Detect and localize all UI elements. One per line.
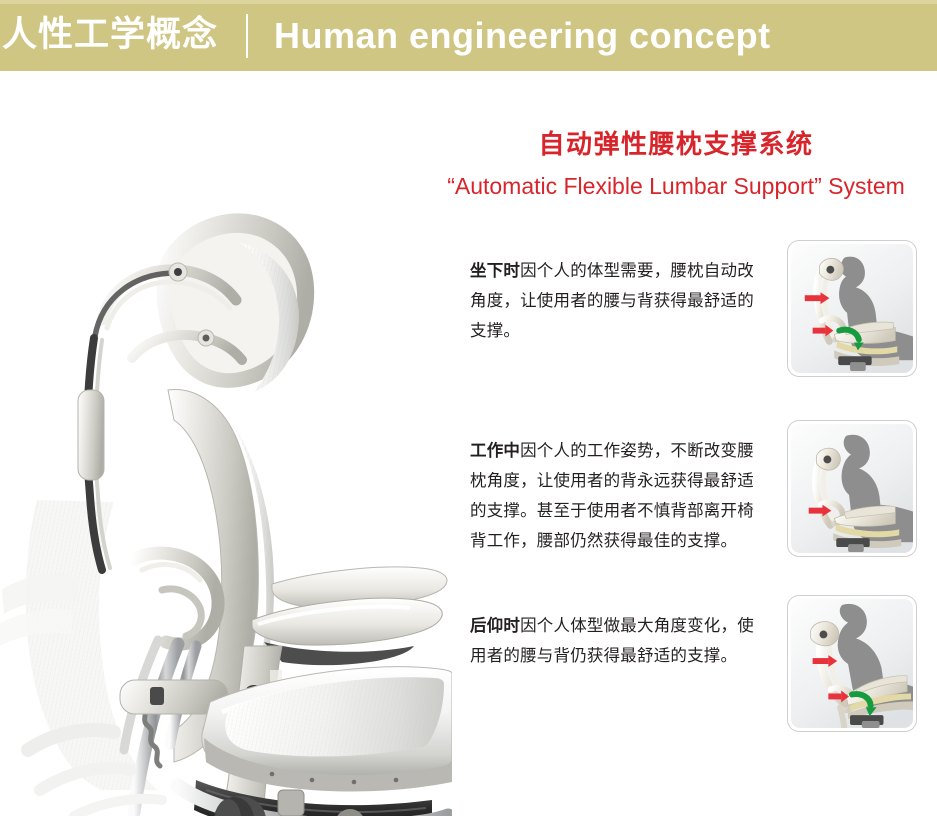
feature-item-seated: 坐下时因个人的体型需要，腰枕自动改角度，让使用者的腰与背获得最舒适的支撑。 <box>470 240 937 420</box>
feature-text-seated: 坐下时因个人的体型需要，腰枕自动改角度，让使用者的腰与背获得最舒适的支撑。 <box>470 240 760 346</box>
banner-title-english: Human engineering concept <box>274 18 771 54</box>
feature-text-working: 工作中因个人的工作姿势，不断改变腰枕角度，让使用者的背永远获得最舒适的支撑。甚至… <box>470 420 760 556</box>
section-heading: 自动弹性腰枕支撑系统 “Automatic Flexible Lumbar Su… <box>415 130 937 201</box>
feature-item-working: 工作中因个人的工作姿势，不断改变腰枕角度，让使用者的背永远获得最舒适的支撑。甚至… <box>470 420 937 595</box>
page-header-banner: 人性工学概念 Human engineering concept <box>0 0 937 71</box>
banner-divider <box>246 14 248 58</box>
feature-label-seated: 坐下时 <box>470 261 520 280</box>
product-photo-chair <box>0 90 452 816</box>
reclined-position-diagram <box>791 599 913 728</box>
seated-position-diagram <box>791 244 913 373</box>
feature-item-reclined: 后仰时因个人体型做最大角度变化，使用者的腰与背仍获得最舒适的支撑。 <box>470 595 937 755</box>
feature-thumbnail-working[interactable] <box>787 420 917 557</box>
working-position-diagram <box>791 424 913 553</box>
feature-thumbnail-seated[interactable] <box>787 240 917 377</box>
banner-title-chinese: 人性工学概念 <box>2 18 218 53</box>
heading-title-chinese: 自动弹性腰枕支撑系统 <box>415 130 937 161</box>
page-root: 人性工学概念 Human engineering concept <box>0 0 937 816</box>
feature-label-working: 工作中 <box>470 441 520 460</box>
heading-title-english: “Automatic Flexible Lumbar Support” Syst… <box>415 173 937 201</box>
feature-list: 坐下时因个人的体型需要，腰枕自动改角度，让使用者的腰与背获得最舒适的支撑。 <box>470 240 937 755</box>
banner-top-highlight <box>0 0 937 4</box>
feature-thumbnail-reclined[interactable] <box>787 595 917 732</box>
feature-text-reclined: 后仰时因个人体型做最大角度变化，使用者的腰与背仍获得最舒适的支撑。 <box>470 595 760 671</box>
feature-label-reclined: 后仰时 <box>470 616 520 635</box>
